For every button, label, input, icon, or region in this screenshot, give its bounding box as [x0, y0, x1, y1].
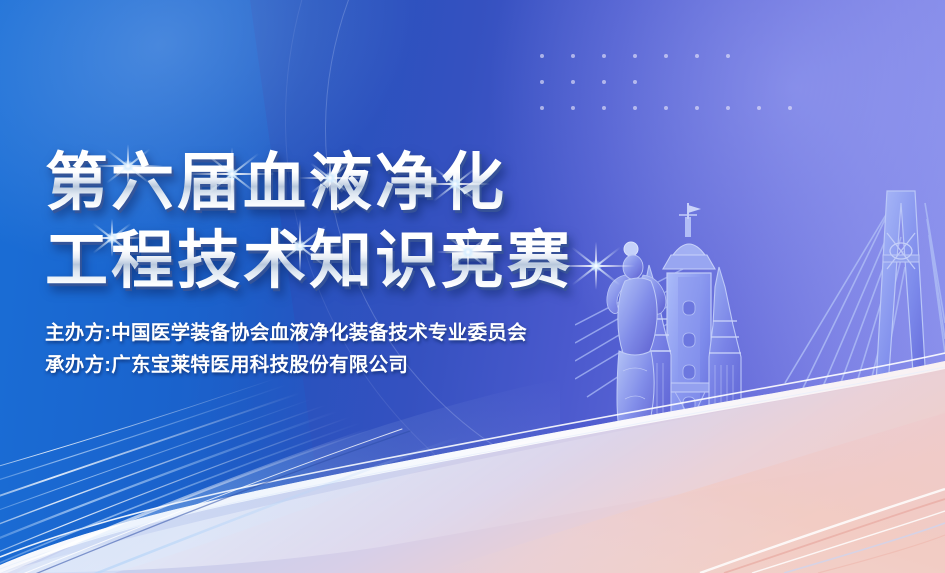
grid-dot — [664, 106, 668, 110]
dot-grid-row — [540, 106, 792, 110]
grid-dot — [602, 106, 606, 110]
grid-dot — [602, 80, 606, 84]
grid-dot — [664, 54, 668, 58]
grid-dot — [788, 106, 792, 110]
organizer-line: 主办方:中国医学装备协会血液净化装备技术专业委员会 — [45, 318, 573, 348]
event-banner: 第六届血液净化 工程技术知识竞赛 主办方:中国医学装备协会血液净化装备技术专业委… — [0, 0, 945, 573]
grid-dot — [571, 106, 575, 110]
co-organizer-line: 承办方:广东宝莱特医用科技股份有限公司 — [45, 350, 573, 380]
grid-dot — [695, 106, 699, 110]
banner-text-block: 第六届血液净化 工程技术知识竞赛 主办方:中国医学装备协会血液净化装备技术专业委… — [45, 148, 573, 380]
event-title-line-1: 第六届血液净化 — [45, 148, 573, 218]
event-title-line-2: 工程技术知识竞赛 — [45, 226, 573, 296]
grid-dot — [633, 54, 637, 58]
grid-dot — [540, 80, 544, 84]
dot-grid-row — [540, 54, 792, 58]
dot-grid-row — [540, 80, 792, 84]
grid-dot — [726, 54, 730, 58]
grid-dot — [571, 80, 575, 84]
grid-dot — [602, 54, 606, 58]
grid-dot — [540, 54, 544, 58]
grid-dot — [571, 54, 575, 58]
grid-dot — [633, 106, 637, 110]
grid-dot — [633, 80, 637, 84]
dot-grid-pattern — [540, 54, 792, 132]
grid-dot — [757, 106, 761, 110]
grid-dot — [695, 54, 699, 58]
grid-dot — [726, 106, 730, 110]
grid-dot — [540, 106, 544, 110]
